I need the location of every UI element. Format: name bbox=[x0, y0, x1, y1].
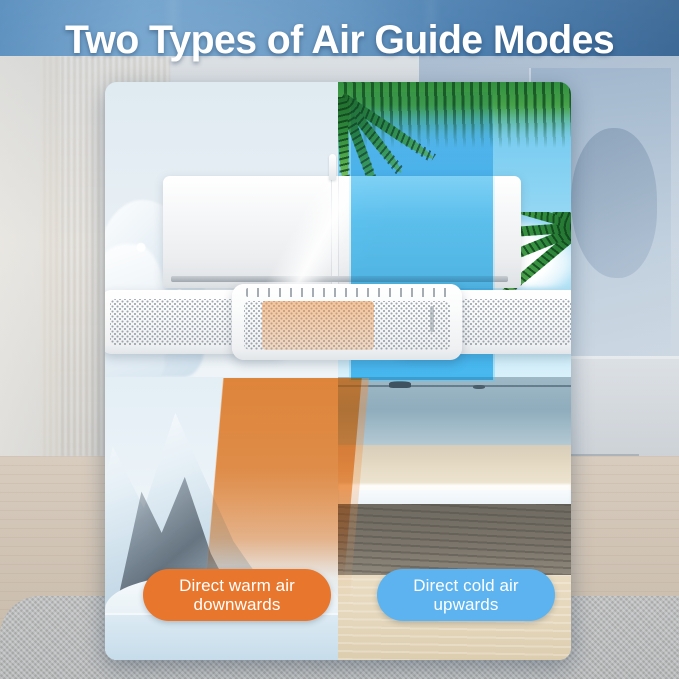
photo-card: Direct warm air downwards Direct cold ai… bbox=[105, 82, 571, 660]
page-title: Two Types of Air Guide Modes bbox=[7, 18, 672, 63]
wet-sand bbox=[338, 445, 571, 490]
label-cold-line2: upwards bbox=[434, 595, 499, 614]
deflector-clip-teeth bbox=[246, 288, 448, 297]
label-warm-line1: Direct warm air bbox=[179, 576, 295, 595]
sea bbox=[338, 377, 571, 451]
boat bbox=[389, 381, 411, 388]
air-deflector bbox=[105, 284, 571, 361]
promo-image: Direct warm air downwards Direct cold ai… bbox=[0, 0, 679, 679]
horizon-line bbox=[338, 385, 571, 387]
label-warm-line2: downwards bbox=[194, 595, 281, 614]
deflector-notch bbox=[430, 306, 434, 332]
label-cold-line1: Direct cold air bbox=[413, 576, 518, 595]
deflector-warm-tint bbox=[262, 301, 374, 350]
deflector-center-panel bbox=[232, 284, 462, 360]
dark-sand-band bbox=[338, 504, 571, 578]
label-cold-air: Direct cold air upwards bbox=[377, 569, 555, 621]
ac-antenna bbox=[329, 154, 336, 180]
label-warm-air: Direct warm air downwards bbox=[143, 569, 331, 621]
